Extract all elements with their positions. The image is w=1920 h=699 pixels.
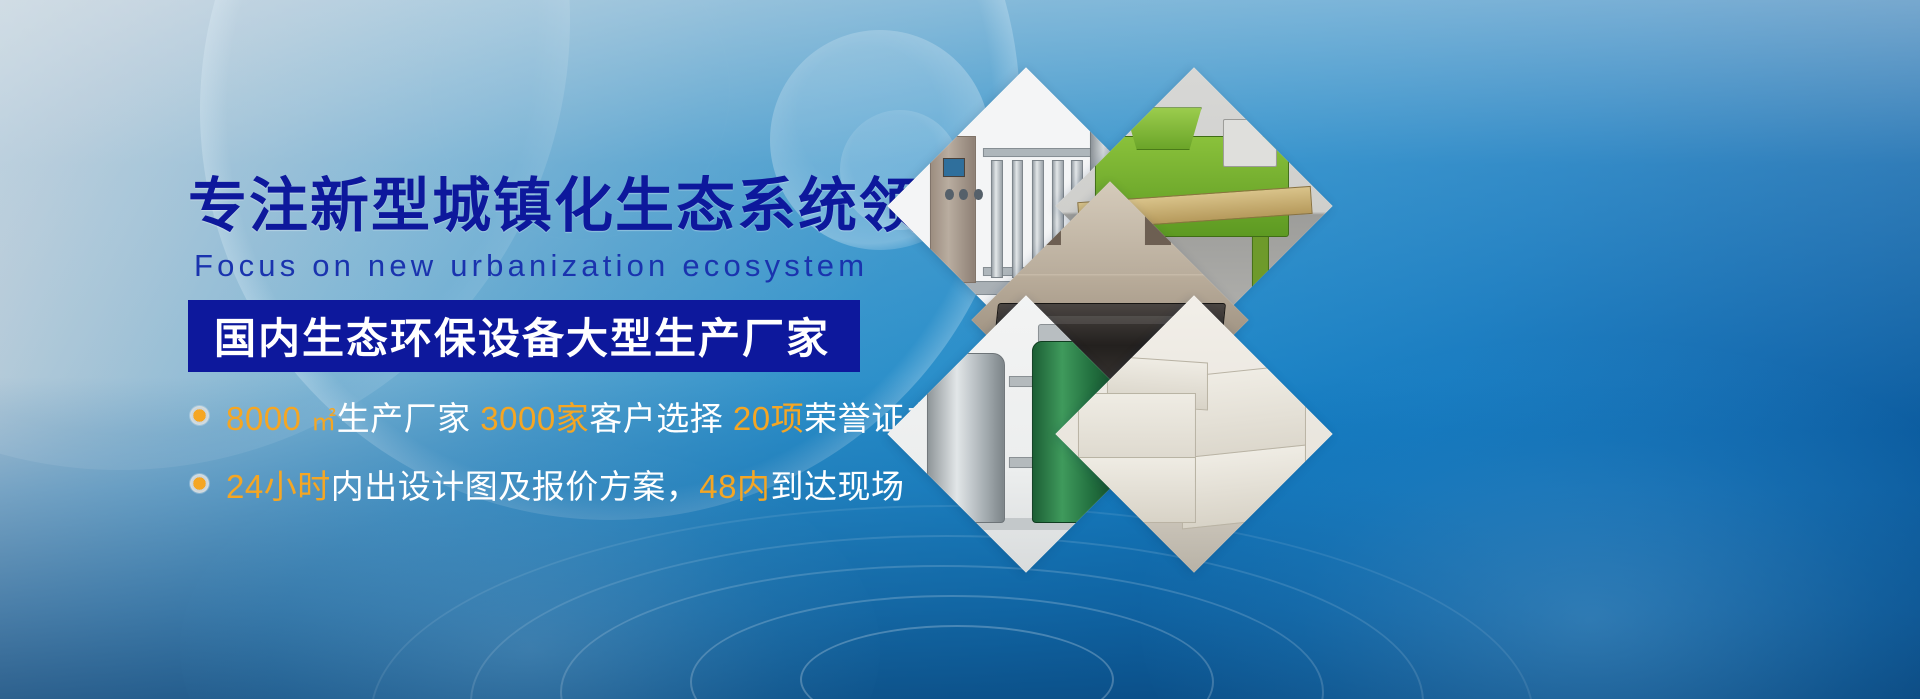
banner-subheadline: Focus on new urbanization ecosystem (194, 248, 908, 284)
feature-line-2-text: 24小时内出设计图及报价方案，48内到达现场 (226, 460, 904, 508)
feature-line-2: 24小时内出设计图及报价方案，48内到达现场 (190, 460, 908, 508)
hero-banner: 专注新型城镇化生态系统领域 Focus on new urbanization … (0, 0, 1920, 699)
orange-dot-icon (190, 474, 209, 493)
orange-dot-icon (190, 406, 209, 425)
feature-line-1: 8000 ㎡生产厂家 3000家客户选择 20项荣誉证书 (190, 392, 908, 440)
banner-highlight-box: 国内生态环保设备大型生产厂家 (188, 300, 860, 372)
product-tile-group (900, 46, 1330, 646)
banner-copy: 专注新型城镇化生态系统领域 Focus on new urbanization … (188, 176, 908, 508)
banner-highlight-text: 国内生态环保设备大型生产厂家 (214, 305, 830, 366)
banner-headline: 专注新型城镇化生态系统领域 (188, 176, 908, 238)
feature-line-1-text: 8000 ㎡生产厂家 3000家客户选择 20项荣誉证书 (226, 392, 938, 440)
